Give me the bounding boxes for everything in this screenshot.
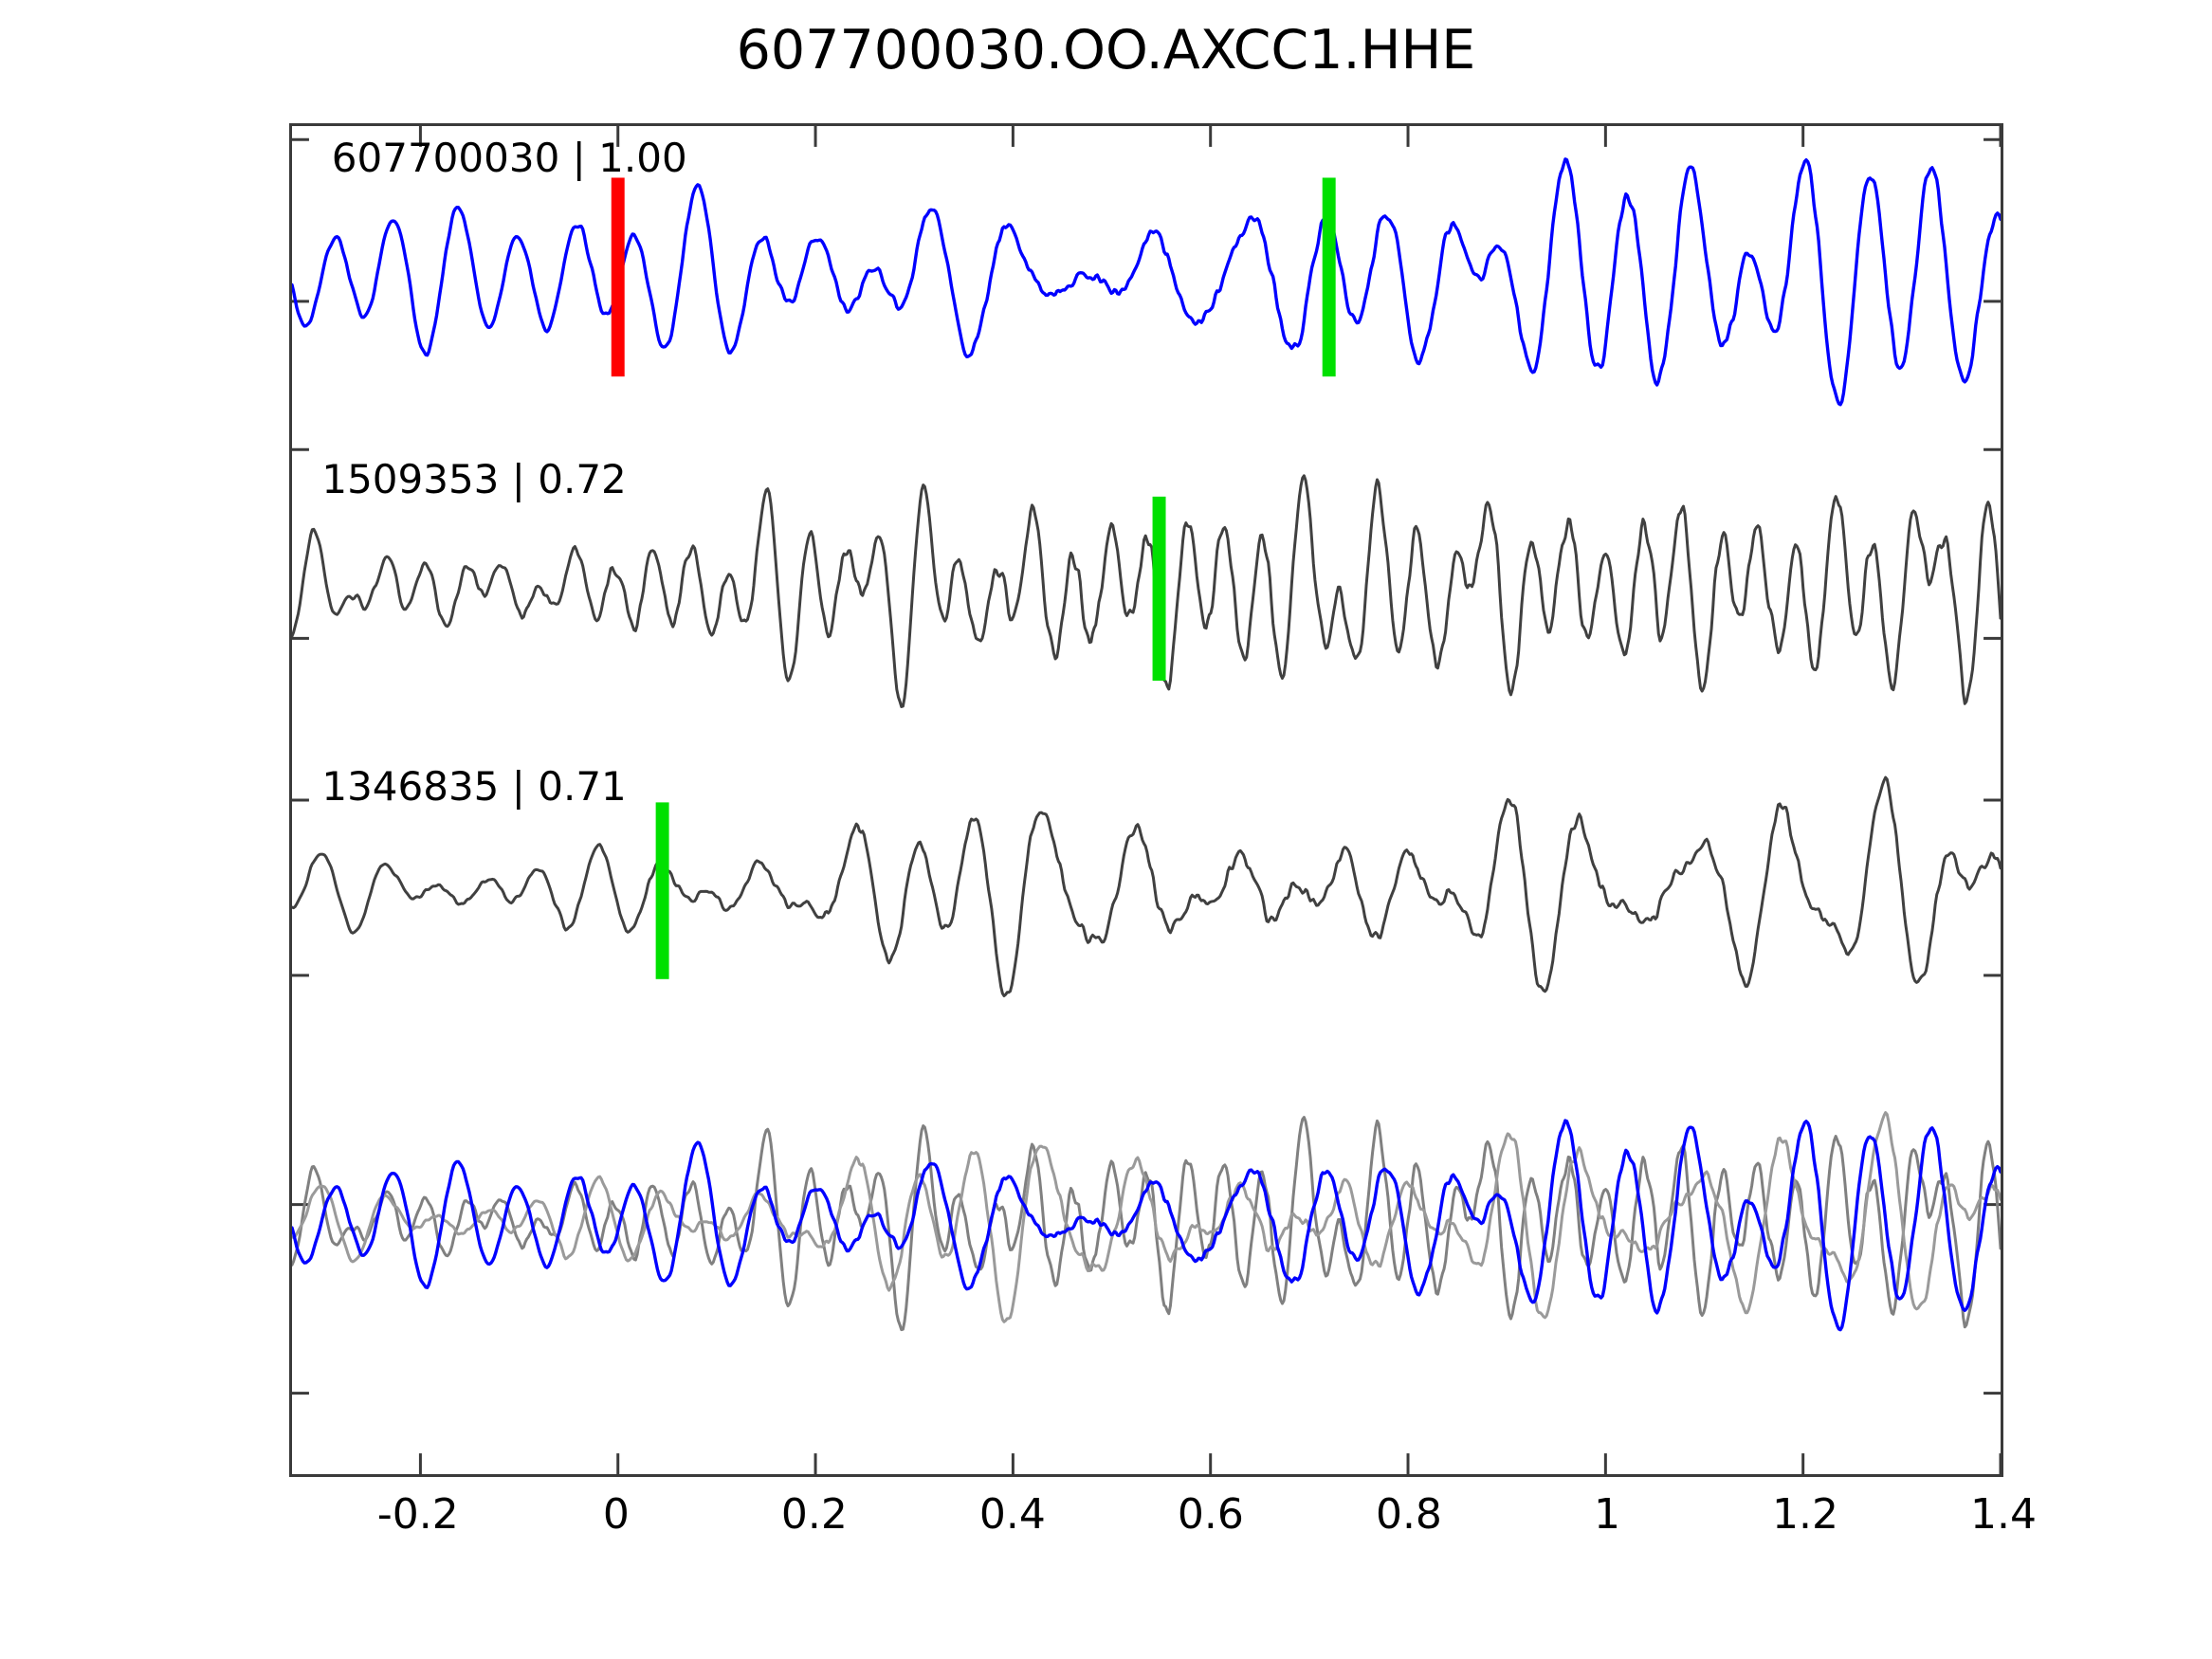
pick-marker-green	[656, 802, 669, 978]
x-tick-label: 0.2	[781, 1490, 848, 1539]
waveform-trace	[292, 777, 2001, 995]
x-tick-label: 0.4	[979, 1490, 1046, 1539]
seismic-waveform-figure: 607700030.OO.AXCC1.HHE 607700030 | 1.001…	[0, 0, 2212, 1659]
x-tick-label: 0.6	[1178, 1490, 1244, 1539]
x-axis-tick-labels: -0.200.20.40.60.811.21.4	[289, 1490, 2003, 1557]
x-tick-label: 0.8	[1376, 1490, 1442, 1539]
pick-marker-red	[612, 177, 625, 376]
trace-label-1346835: 1346835 | 0.71	[321, 763, 626, 810]
trace-label-607700030: 607700030 | 1.00	[332, 135, 687, 181]
plot-area: 607700030 | 1.001509353 | 0.721346835 | …	[289, 123, 2003, 1477]
x-tick-label: 0	[603, 1490, 630, 1539]
x-tick-label: -0.2	[377, 1490, 459, 1539]
x-tick-label: 1	[1594, 1490, 1620, 1539]
pick-marker-green	[1153, 497, 1166, 681]
waveform-trace	[292, 476, 2001, 707]
x-tick-label: 1.4	[1970, 1490, 2037, 1539]
x-tick-label: 1.2	[1772, 1490, 1838, 1539]
trace-label-1509353: 1509353 | 0.72	[321, 456, 626, 502]
waveform-overlay-trace	[292, 1118, 2001, 1330]
waveform-overlay-trace	[292, 1121, 2001, 1330]
waveform-overlay-trace	[292, 1113, 2001, 1322]
page-title: 607700030.OO.AXCC1.HHE	[0, 19, 2212, 82]
pick-marker-green	[1323, 177, 1336, 376]
waveform-trace	[292, 159, 2001, 405]
